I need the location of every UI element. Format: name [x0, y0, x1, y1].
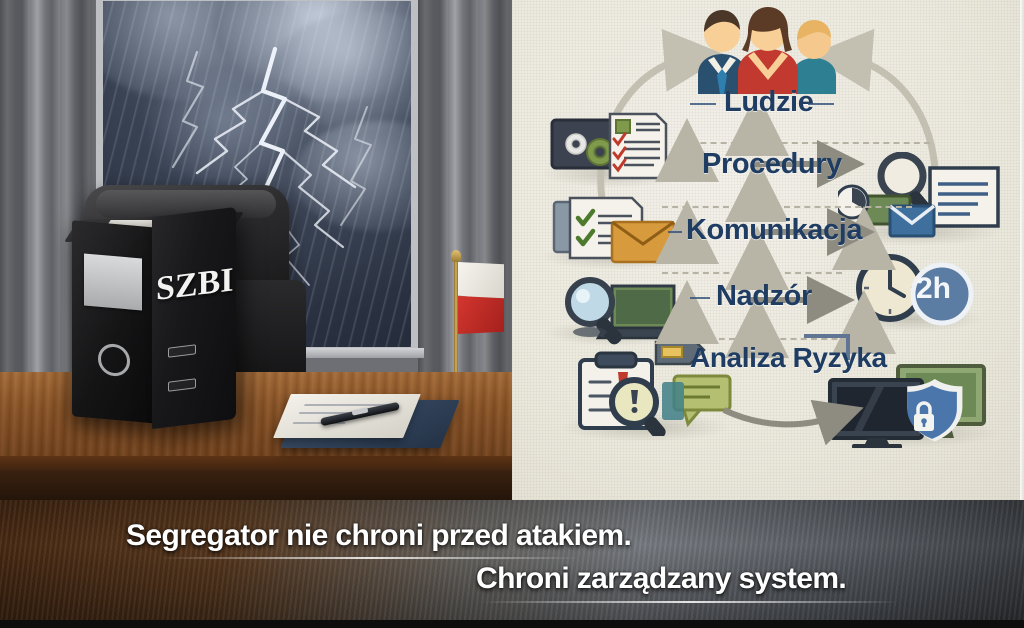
- caption-line-2: Chroni zarządzany system.: [476, 562, 846, 596]
- dash-nadzor-left: [690, 297, 710, 299]
- caption-rule-1: [160, 557, 580, 559]
- caption-line-1: Segregator nie chroni przed atakiem.: [126, 519, 631, 553]
- image-canvas: SZBI: [0, 0, 1024, 628]
- left-panel-office-scene: SZBI: [0, 0, 512, 500]
- flag-pole: [454, 258, 458, 378]
- ring-binder: SZBI: [72, 216, 224, 421]
- desk-front: [0, 470, 512, 500]
- binder-blank-label: [84, 253, 142, 310]
- dash-ludzie-right: [808, 103, 834, 105]
- diagram-label-procedury: Procedury: [702, 148, 842, 181]
- dash-ludzie-left: [690, 103, 716, 105]
- diagram-label-analiza-ryzyka: Analiza Ryzyka: [690, 342, 887, 374]
- caption-rule-2: [480, 601, 900, 603]
- polish-flag-red-stripe: [458, 296, 504, 334]
- diagram-label-komunikacja: Komunikacja: [686, 214, 862, 247]
- flag-finial: [451, 250, 461, 262]
- binder-spine: [72, 220, 158, 424]
- diagram-label-ludzie: Ludzie: [724, 86, 813, 119]
- binder-front-cover: [152, 207, 236, 429]
- right-panel-diagram: 2h: [512, 0, 1024, 500]
- people-group-icon: [680, 2, 856, 94]
- polish-flag-white-stripe: [458, 262, 504, 300]
- panel-divider: [1020, 0, 1024, 500]
- frame-bottom-edge: [0, 620, 1024, 628]
- diagram-label-nadzor: Nadzór: [716, 280, 812, 313]
- dash-komunikacja-left: [668, 231, 682, 233]
